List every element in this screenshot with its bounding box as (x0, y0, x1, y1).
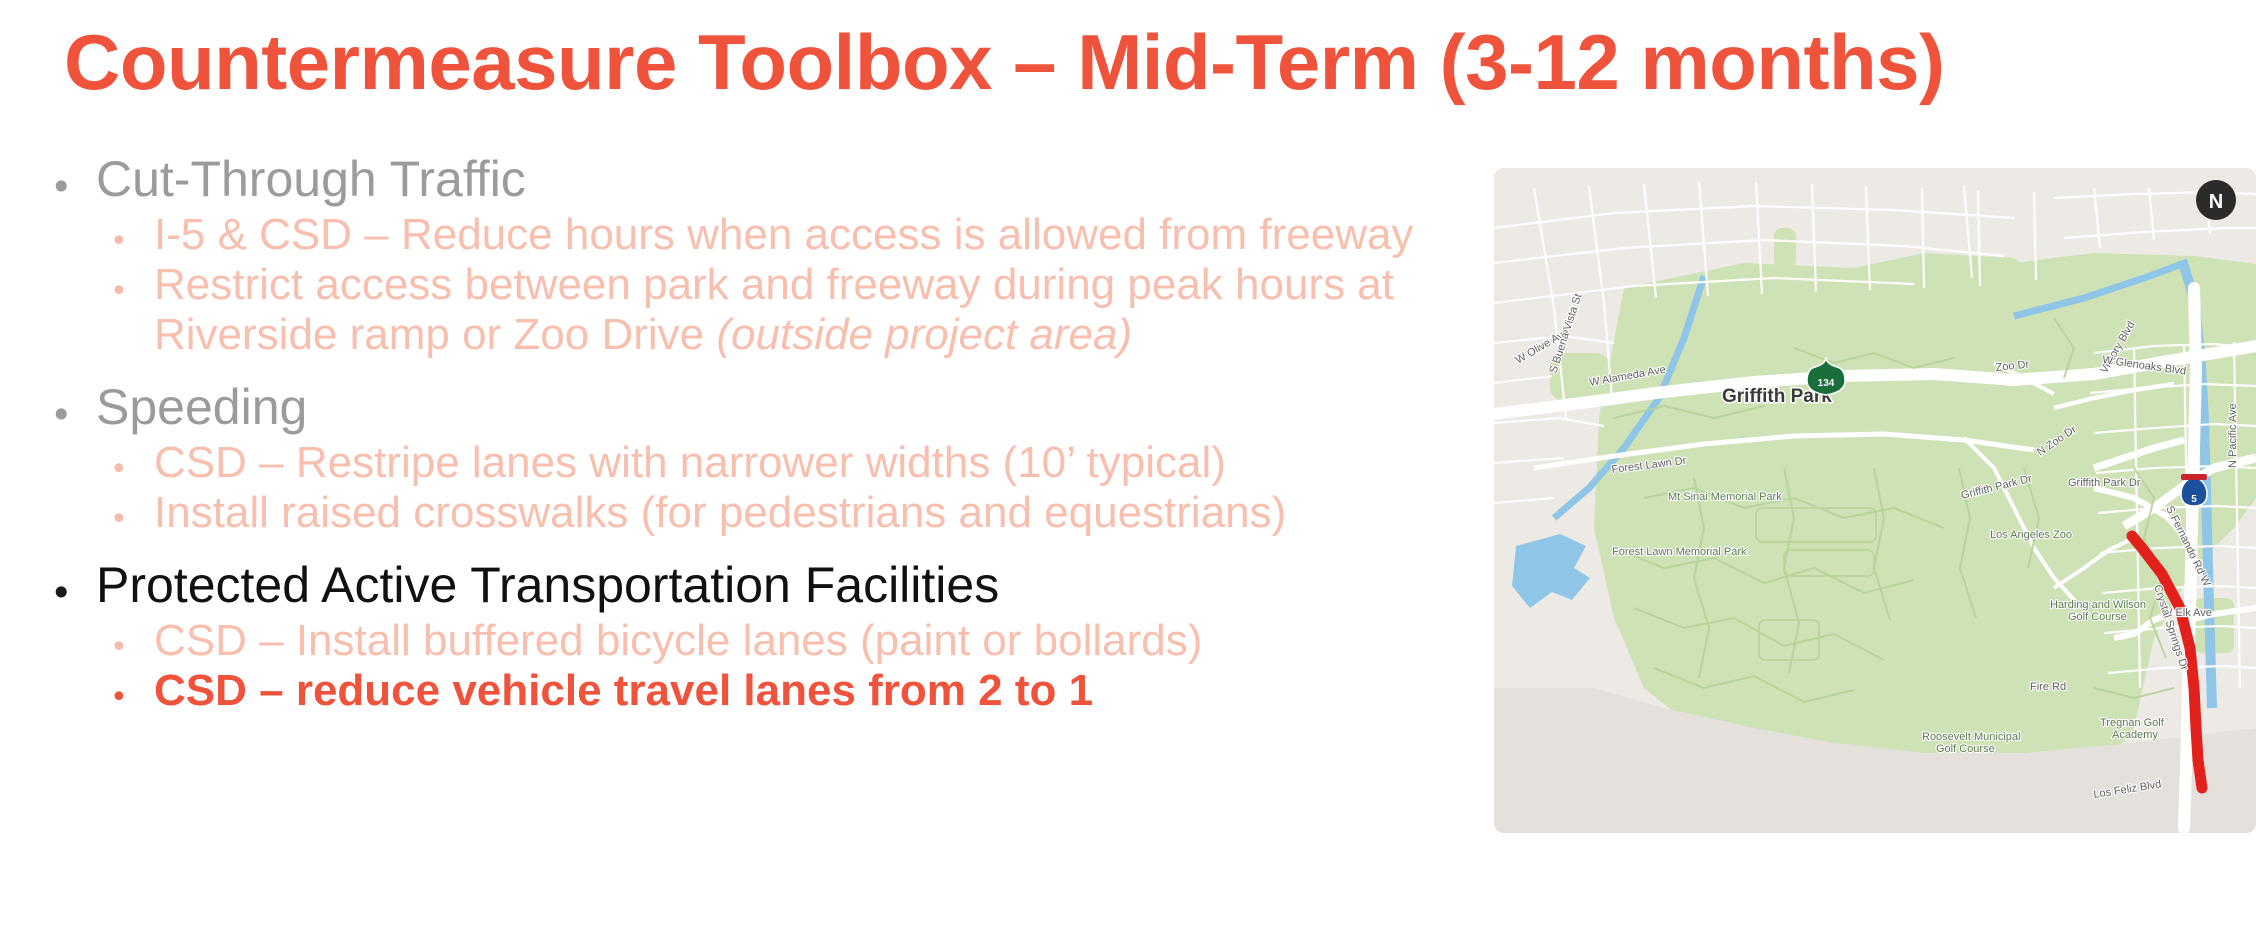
bullet-level2-csd-reduce-vehicle-travel-lanes: • CSD – reduce vehicle travel lanes from… (110, 666, 1500, 716)
bullet-level2-label: CSD – Install buffered bicycle lanes (pa… (154, 616, 1500, 666)
bullet-level2-italic-note: (outside project area) (716, 310, 1132, 359)
map-label-mt-sinai-memorial-park: Mt Sinai Memorial Park (1668, 491, 1782, 503)
map-label-griffith-park-dr: Griffith Park Dr (2068, 477, 2141, 489)
bullet-point-icon: • (50, 378, 96, 434)
content-body: • Cut-Through Traffic • I-5 & CSD – Redu… (50, 150, 1500, 716)
bullet-level2-label: Install raised crosswalks (for pedestria… (154, 488, 1500, 538)
bullet-level1-label: Cut-Through Traffic (96, 150, 1500, 208)
bullet-level2-csd-restripe-lanes: • CSD – Restripe lanes with narrower wid… (110, 438, 1500, 488)
route-shield-i5: 5 (2181, 474, 2207, 506)
bullet-level1-speeding: • Speeding (50, 378, 1500, 436)
griffith-park-map-image: W Olive Ave S Buena Vista St W Alameda A… (1494, 168, 2256, 833)
svg-text:5: 5 (2191, 494, 2197, 505)
bullet-point-icon: • (110, 488, 154, 535)
map-label-harding-wilson-golf-1: Harding and Wilson (2050, 599, 2146, 611)
bullet-point-icon: • (110, 260, 154, 307)
svg-text:N: N (2209, 191, 2223, 213)
slide-root: Countermeasure Toolbox – Mid-Term (3-12 … (0, 0, 2256, 952)
bullet-level2-label: CSD – Restripe lanes with narrower width… (154, 438, 1500, 488)
bullet-point-icon: • (50, 150, 96, 206)
bullet-point-icon: • (110, 438, 154, 485)
map-label-los-angeles-zoo: Los Angeles Zoo (1990, 529, 2072, 541)
map-graphic: W Olive Ave S Buena Vista St W Alameda A… (1494, 168, 2256, 833)
bullet-level2-i5-csd-reduce-hours: • I-5 & CSD – Reduce hours when access i… (110, 210, 1500, 260)
map-label-fire-rd: Fire Rd (2030, 681, 2066, 693)
north-arrow-icon: N (2196, 180, 2236, 220)
svg-text:134: 134 (1818, 378, 1835, 389)
map-label-harding-wilson-golf-2: Golf Course (2068, 611, 2127, 623)
bullet-level1-label: Protected Active Transportation Faciliti… (96, 556, 1500, 614)
map-label-n-pacific-ave: N Pacific Ave (2227, 403, 2239, 468)
map-label-forest-lawn-memorial-park: Forest Lawn Memorial Park (1612, 546, 1747, 558)
bullet-level1-cut-through-traffic: • Cut-Through Traffic (50, 150, 1500, 208)
bullet-level2-label: Restrict access between park and freeway… (154, 260, 1500, 360)
bullet-level2-csd-buffered-bicycle-lanes: • CSD – Install buffered bicycle lanes (… (110, 616, 1500, 666)
bullet-point-icon: • (110, 666, 154, 713)
bullet-level1-label: Speeding (96, 378, 1500, 436)
bullet-point-icon: • (110, 616, 154, 663)
bullet-level2-label: I-5 & CSD – Reduce hours when access is … (154, 210, 1500, 260)
map-label-roosevelt-golf-1: Roosevelt Municipal (1922, 731, 2020, 743)
map-label-roosevelt-golf-2: Golf Course (1936, 743, 1995, 755)
bullet-level2-install-raised-crosswalks: • Install raised crosswalks (for pedestr… (110, 488, 1500, 538)
map-label-tregnan-golf-1: Tregnan Golf (2100, 717, 2165, 729)
bullet-level2-restrict-access: • Restrict access between park and freew… (110, 260, 1500, 360)
slide-title: Countermeasure Toolbox – Mid-Term (3-12 … (64, 16, 2194, 108)
bullet-point-icon: • (110, 210, 154, 257)
bullet-point-icon: • (50, 556, 96, 612)
bullet-level1-protected-active-transportation-facilities: • Protected Active Transportation Facili… (50, 556, 1500, 614)
bullet-level2-label: CSD – reduce vehicle travel lanes from 2… (154, 666, 1500, 716)
map-label-tregnan-golf-2: Academy (2112, 729, 2158, 741)
